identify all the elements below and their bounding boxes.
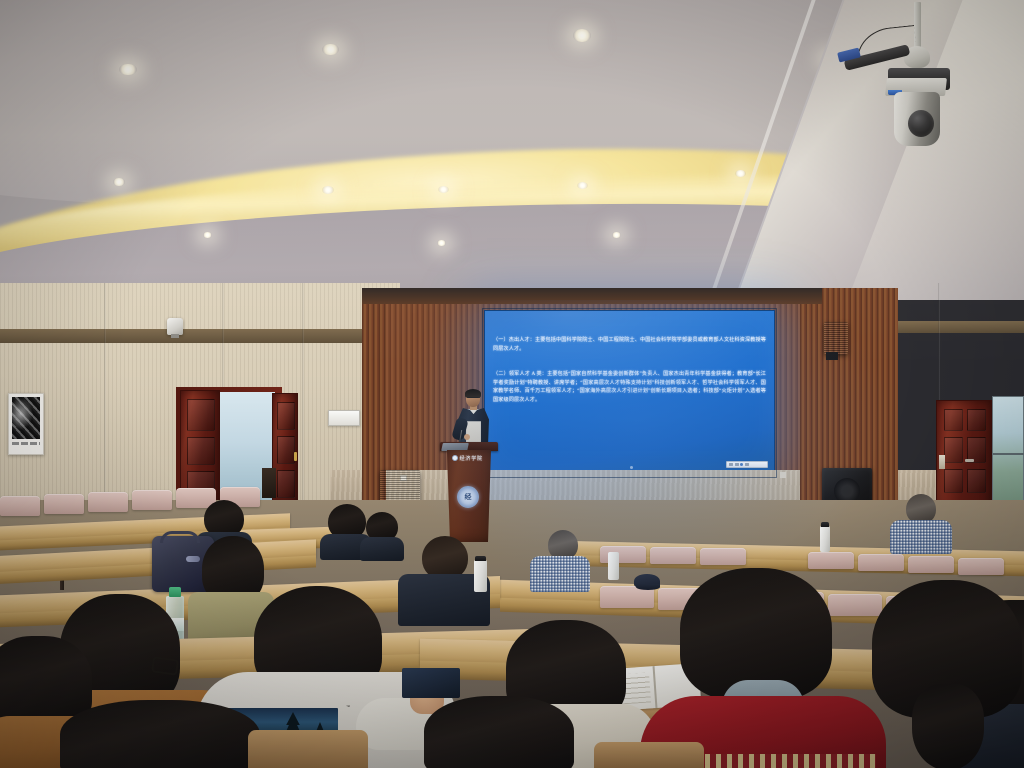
wall-poster (8, 393, 44, 455)
tumbler-lid (475, 556, 486, 561)
smartphone[interactable] (402, 668, 460, 698)
podium-seal-icon (452, 455, 458, 461)
seat-armrest[interactable] (248, 730, 368, 768)
door-panel (277, 470, 295, 498)
door-panel (187, 437, 215, 465)
camera-lens-icon (908, 110, 934, 137)
window-mullion (993, 453, 1024, 455)
door-panel (187, 399, 215, 431)
door-handle-icon[interactable] (294, 452, 297, 461)
poster-photo (12, 397, 40, 439)
speaker-bracket-right (826, 352, 838, 360)
wall-speaker-right (824, 322, 848, 354)
door-panel (944, 469, 963, 493)
audience-member (60, 700, 260, 768)
stage-wall-outlet (780, 472, 786, 478)
wall-panel-seam (302, 283, 304, 523)
seat[interactable] (0, 496, 40, 516)
podium-emblem-glyph: 经 (465, 492, 472, 502)
downlight (612, 232, 621, 238)
door-panel (944, 437, 963, 463)
seat[interactable] (700, 548, 746, 565)
ponytail (912, 684, 984, 768)
speaker-bracket (171, 334, 179, 338)
thermos-tumbler (820, 526, 830, 552)
downlight (573, 29, 591, 42)
downlight (735, 170, 746, 177)
wall-speaker-left (167, 318, 183, 335)
audience-member (640, 568, 890, 768)
downlight (437, 240, 446, 246)
seat[interactable] (958, 558, 1004, 575)
poster-caption-lines (12, 442, 40, 445)
downlight (438, 186, 449, 193)
downlight (322, 44, 339, 55)
podium-laptop[interactable] (441, 443, 469, 451)
downlight (322, 186, 334, 194)
wall-accent-band (898, 321, 1024, 333)
door-panel (944, 409, 963, 431)
seat[interactable] (808, 552, 854, 569)
downlight (203, 232, 212, 238)
lecture-hall-photo: （一）杰出人才：主要包括中国科学院院士、中国工程院院士、中国社会科学院学部委员或… (0, 0, 1024, 768)
downlight (113, 178, 125, 186)
podium-plaque-text: 经济学院 (460, 455, 483, 462)
glasses-icon (151, 656, 179, 675)
door-handle-icon[interactable] (965, 459, 974, 462)
downlight (119, 64, 137, 75)
door-panel (277, 402, 295, 430)
screen-bezel (482, 308, 777, 478)
person-hair (424, 696, 574, 768)
podium-emblem: 经 (457, 486, 479, 508)
seat[interactable] (88, 492, 128, 512)
thermos-tumbler (608, 552, 619, 580)
door-panel (967, 409, 986, 431)
door-panel (277, 436, 295, 464)
audience-member (856, 580, 1024, 768)
audience-member (886, 494, 956, 554)
presenter-hand (464, 434, 470, 440)
ptz-camera (862, 2, 982, 162)
audience-member (424, 696, 574, 768)
seat[interactable] (908, 556, 954, 573)
seat[interactable] (44, 494, 84, 514)
person-torso (530, 556, 590, 592)
stage-header-shadow (362, 288, 822, 304)
glasses-icon (467, 397, 480, 400)
tumbler-lid (821, 522, 829, 527)
seat[interactable] (600, 546, 646, 563)
seat[interactable] (132, 490, 172, 510)
doorway-chair (262, 468, 276, 498)
audience-member (530, 530, 594, 590)
person-hair (60, 700, 260, 768)
podium-plaque: 经济学院 (452, 454, 488, 462)
wall-mounted-box (328, 410, 360, 426)
seat[interactable] (650, 547, 696, 564)
downlight (577, 182, 588, 189)
podium: 经济学院 经 (440, 442, 498, 542)
seat-armrest[interactable] (594, 742, 704, 768)
fire-extinguisher-sign (939, 455, 945, 469)
wall-accent-band (0, 329, 400, 343)
person-torso (890, 520, 952, 554)
door-panel (967, 469, 986, 493)
thermos-tumbler (474, 560, 487, 592)
tshirt-tm-mark: ™ (346, 704, 350, 709)
